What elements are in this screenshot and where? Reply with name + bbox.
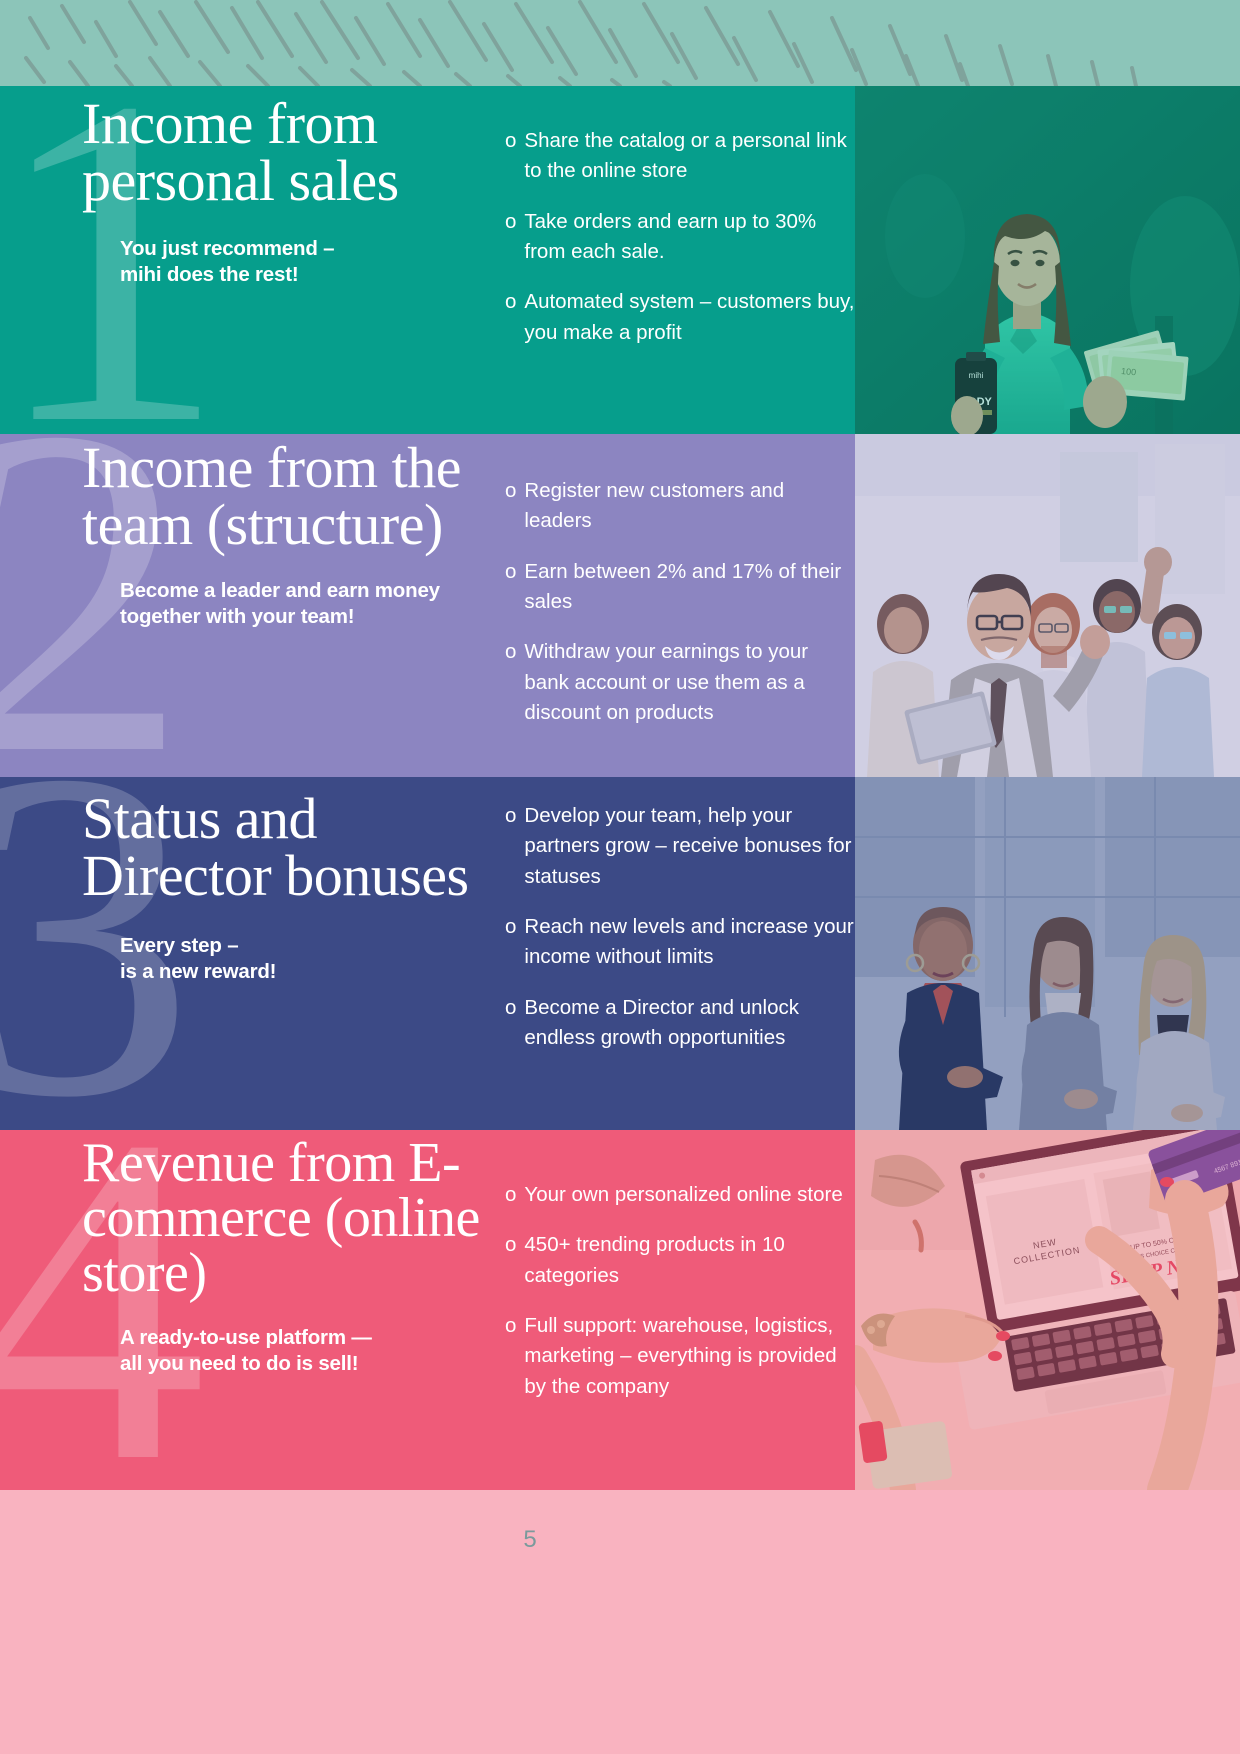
section-2-text-column: Income from the team (structure) Become … [82, 440, 502, 630]
list-item: o 450+ trending products in 10 categorie… [505, 1230, 855, 1291]
section-status-director-bonuses: 3 Status and Director bonuses Every step… [0, 777, 1240, 1130]
section-2-photo [855, 434, 1240, 777]
bullet-marker-icon: o [505, 557, 516, 618]
section-2-headline: Income from the team (structure) [82, 440, 502, 554]
list-item-text: Withdraw your earnings to your bank acco… [524, 637, 855, 728]
bullet-marker-icon: o [505, 1180, 516, 1210]
section-2-bullet-list: o Register new customers and leaders o E… [505, 476, 855, 748]
section-4-bullet-list: o Your own personalized online store o 4… [505, 1180, 855, 1422]
photo-woman-with-product-and-money: mihi BODY 100 100 100 [855, 86, 1240, 434]
section-1-text-column: Income from personal sales You just reco… [82, 96, 502, 288]
bullet-marker-icon: o [505, 912, 516, 973]
list-item: o Become a Director and unlock endless g… [505, 993, 855, 1054]
list-item: o Earn between 2% and 17% of their sales [505, 557, 855, 618]
bullet-marker-icon: o [505, 1311, 516, 1402]
list-item-text: Become a Director and unlock endless gro… [524, 993, 855, 1054]
footer-band: 5 [0, 1490, 1240, 1754]
section-1-headline: Income from personal sales [82, 96, 502, 210]
list-item-text: Develop your team, help your partners gr… [524, 801, 855, 892]
section-4-headline: Revenue from E-commerce (online store) [82, 1136, 502, 1301]
section-3-bullet-list: o Develop your team, help your partners … [505, 801, 855, 1073]
section-personal-sales: 1 Income from personal sales You just re… [0, 86, 1240, 434]
section-3-text-column: Status and Director bonuses Every step –… [82, 791, 502, 985]
section-3-subline: Every step – is a new reward! [120, 933, 502, 985]
section-4-photo: NEW COLLECTION UP TO 50% OFF DESIGNER'S … [855, 1130, 1240, 1490]
list-item-text: Automated system – customers buy, you ma… [524, 287, 855, 348]
list-item: o Automated system – customers buy, you … [505, 287, 855, 348]
list-item: o Full support: warehouse, logistics, ma… [505, 1311, 855, 1402]
list-item-text: Share the catalog or a personal link to … [524, 126, 855, 187]
list-item-text: Register new customers and leaders [524, 476, 855, 537]
bullet-marker-icon: o [505, 801, 516, 892]
section-2-subline: Become a leader and earn money together … [120, 578, 502, 630]
section-team-income: 2 Income from the team (structure) Becom… [0, 434, 1240, 777]
photo-laptop-online-shopping: NEW COLLECTION UP TO 50% OFF DESIGNER'S … [855, 1130, 1240, 1490]
list-item: o Withdraw your earnings to your bank ac… [505, 637, 855, 728]
bullet-marker-icon: o [505, 993, 516, 1054]
list-item: o Your own personalized online store [505, 1180, 855, 1210]
page-number: 5 [0, 1526, 1240, 1554]
bullet-marker-icon: o [505, 207, 516, 268]
list-item: o Develop your team, help your partners … [505, 801, 855, 892]
list-item: o Register new customers and leaders [505, 476, 855, 537]
bullet-marker-icon: o [505, 476, 516, 537]
list-item-text: 450+ trending products in 10 categories [524, 1230, 855, 1291]
section-1-bullet-list: o Share the catalog or a personal link t… [505, 126, 855, 368]
list-item: o Take orders and earn up to 30% from ea… [505, 207, 855, 268]
list-item-text: Reach new levels and increase your incom… [524, 912, 855, 973]
photo-three-businesswomen [855, 777, 1240, 1130]
bullet-marker-icon: o [505, 637, 516, 728]
section-1-subline: You just recommend – mihi does the rest! [120, 236, 502, 288]
diagonal-dashes-pattern [0, 0, 1240, 86]
section-1-photo: mihi BODY 100 100 100 [855, 86, 1240, 434]
section-3-headline: Status and Director bonuses [82, 791, 502, 905]
section-4-subline: A ready-to-use platform — all you need t… [120, 1325, 502, 1377]
photo-celebrating-team [855, 434, 1240, 777]
section-3-photo [855, 777, 1240, 1130]
list-item-text: Full support: warehouse, logistics, mark… [524, 1311, 855, 1402]
list-item: o Share the catalog or a personal link t… [505, 126, 855, 187]
bullet-marker-icon: o [505, 287, 516, 348]
list-item-text: Take orders and earn up to 30% from each… [524, 207, 855, 268]
bullet-marker-icon: o [505, 126, 516, 187]
list-item-text: Your own personalized online store [524, 1180, 855, 1210]
list-item: o Reach new levels and increase your inc… [505, 912, 855, 973]
section-ecommerce-revenue: 4 Revenue from E-commerce (online store)… [0, 1130, 1240, 1490]
bullet-marker-icon: o [505, 1230, 516, 1291]
top-decorative-band [0, 0, 1240, 86]
section-4-text-column: Revenue from E-commerce (online store) A… [82, 1136, 502, 1377]
list-item-text: Earn between 2% and 17% of their sales [524, 557, 855, 618]
